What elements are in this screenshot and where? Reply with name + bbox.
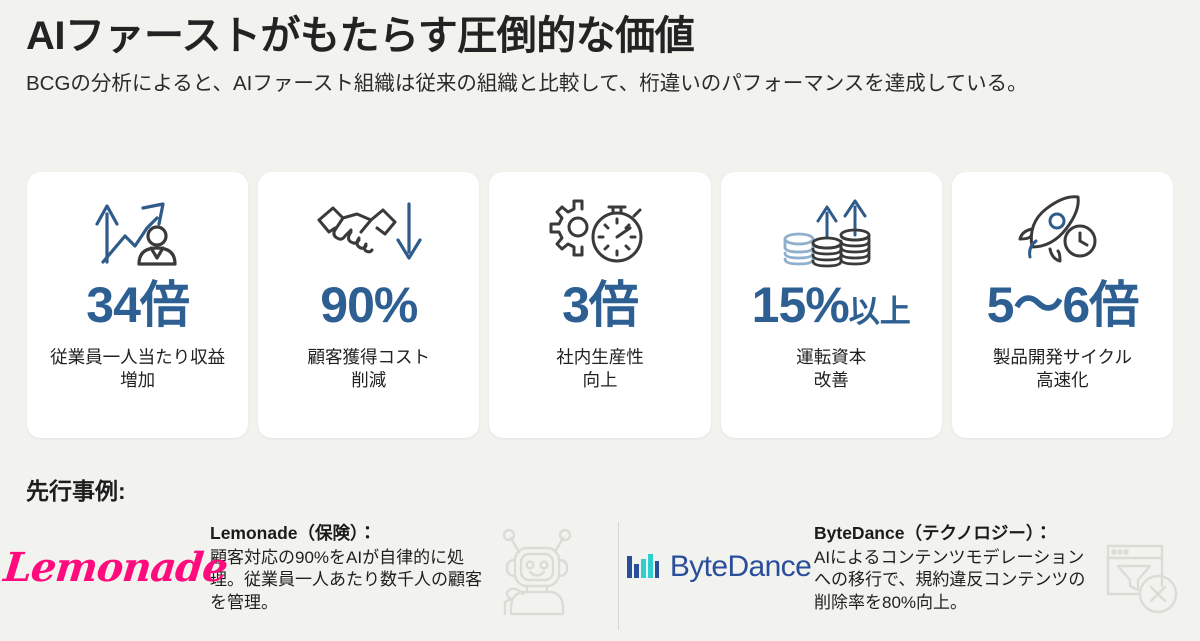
case-title: Lemonade（保険）： bbox=[210, 520, 492, 545]
stat-card-product-cycle[interactable]: 5〜6倍 製品開発サイクル 高速化 bbox=[952, 172, 1173, 438]
slide-root: AIファーストがもたらす圧倒的な価値 BCGの分析によると、AIファースト組織は… bbox=[0, 0, 1200, 641]
lemonade-logo: Lemonade bbox=[20, 512, 210, 622]
stat-label-line2: 高速化 bbox=[993, 369, 1132, 392]
stat-card-cac-reduction[interactable]: 90% 顧客獲得コスト 削減 bbox=[258, 172, 479, 438]
bytedance-mark-icon bbox=[627, 552, 661, 582]
case-lemonade[interactable]: Lemonade Lemonade（保険）： 顧客対応の90%をAIが自律的に処… bbox=[20, 512, 598, 622]
page-subtitle: BCGの分析によると、AIファースト組織は従来の組織と比較して、桁違いのパフォー… bbox=[26, 69, 1174, 98]
stat-label-line2: 向上 bbox=[556, 369, 644, 392]
coin-stacks-up-arrows-icon bbox=[779, 190, 883, 274]
stat-value-main: 34倍 bbox=[86, 280, 189, 330]
stat-label: 顧客獲得コスト 削減 bbox=[308, 346, 431, 392]
stat-label: 製品開発サイクル 高速化 bbox=[993, 346, 1132, 392]
stat-value: 5〜6倍 bbox=[987, 280, 1139, 330]
stat-card-working-capital[interactable]: 15%以上 運転資本 改善 bbox=[721, 172, 942, 438]
stat-card-revenue-per-employee[interactable]: 34倍 従業員一人当たり収益 増加 bbox=[27, 172, 248, 438]
stat-value: 3倍 bbox=[562, 280, 638, 330]
gear-stopwatch-icon bbox=[548, 190, 652, 274]
stat-label-line2: 改善 bbox=[796, 369, 866, 392]
stat-label-line1: 従業員一人当たり収益 bbox=[50, 346, 225, 369]
case-text: ByteDance（テクノロジー）： AIによるコンテンツモデレーションへの移行… bbox=[814, 512, 1094, 614]
page-title: AIファーストがもたらす圧倒的な価値 bbox=[26, 14, 1174, 59]
lemonade-logo-text: Lemonade bbox=[1, 544, 229, 591]
stat-value-suffix: 以上 bbox=[849, 296, 911, 327]
stat-label-line2: 増加 bbox=[50, 369, 225, 392]
stat-card-row: 34倍 従業員一人当たり収益 増加 bbox=[27, 172, 1173, 438]
stat-label: 社内生産性 向上 bbox=[556, 346, 644, 392]
stat-value-main: 5〜6倍 bbox=[987, 280, 1139, 330]
bytedance-logo: ByteDance bbox=[624, 512, 814, 622]
stat-label-line1: 顧客獲得コスト bbox=[308, 346, 431, 369]
case-body: AIによるコンテンツモデレーションへの移行で、規約違反コンテンツの削除率を80%… bbox=[814, 547, 1094, 614]
stat-value: 34倍 bbox=[86, 280, 189, 330]
stat-value: 90% bbox=[320, 280, 417, 330]
case-title: ByteDance（テクノロジー）： bbox=[814, 520, 1094, 545]
stat-value-main: 15% bbox=[752, 280, 849, 330]
stat-label-line1: 運転資本 bbox=[796, 346, 866, 369]
handshake-down-arrow-icon bbox=[313, 190, 425, 274]
stat-label: 従業員一人当たり収益 増加 bbox=[50, 346, 225, 392]
stat-label-line1: 製品開発サイクル bbox=[993, 346, 1132, 369]
stat-value-main: 3倍 bbox=[562, 280, 638, 330]
stat-label-line1: 社内生産性 bbox=[556, 346, 644, 369]
stat-card-internal-productivity[interactable]: 3倍 社内生産性 向上 bbox=[489, 172, 710, 438]
rocket-clock-icon bbox=[1010, 190, 1114, 274]
case-text: Lemonade（保険）： 顧客対応の90%をAIが自律的に処理。従業員一人あた… bbox=[210, 512, 492, 614]
growth-chart-person-icon bbox=[85, 190, 191, 274]
stat-value-main: 90% bbox=[320, 280, 417, 330]
stat-value: 15%以上 bbox=[752, 280, 911, 330]
bytedance-logo-text: ByteDance bbox=[670, 550, 811, 584]
case-body: 顧客対応の90%をAIが自律的に処理。従業員一人あたり数千人の顧客を管理。 bbox=[210, 547, 492, 614]
cases-heading: 先行事例: bbox=[26, 472, 126, 506]
case-bytedance[interactable]: ByteDance ByteDance（テクノロジー）： AIによるコンテンツモ… bbox=[598, 512, 1180, 622]
header: AIファーストがもたらす圧倒的な価値 BCGの分析によると、AIファースト組織は… bbox=[0, 0, 1200, 98]
stat-label-line2: 削減 bbox=[308, 369, 431, 392]
stat-label: 運転資本 改善 bbox=[796, 346, 866, 392]
cases-row: Lemonade Lemonade（保険）： 顧客対応の90%をAIが自律的に処… bbox=[20, 512, 1180, 632]
